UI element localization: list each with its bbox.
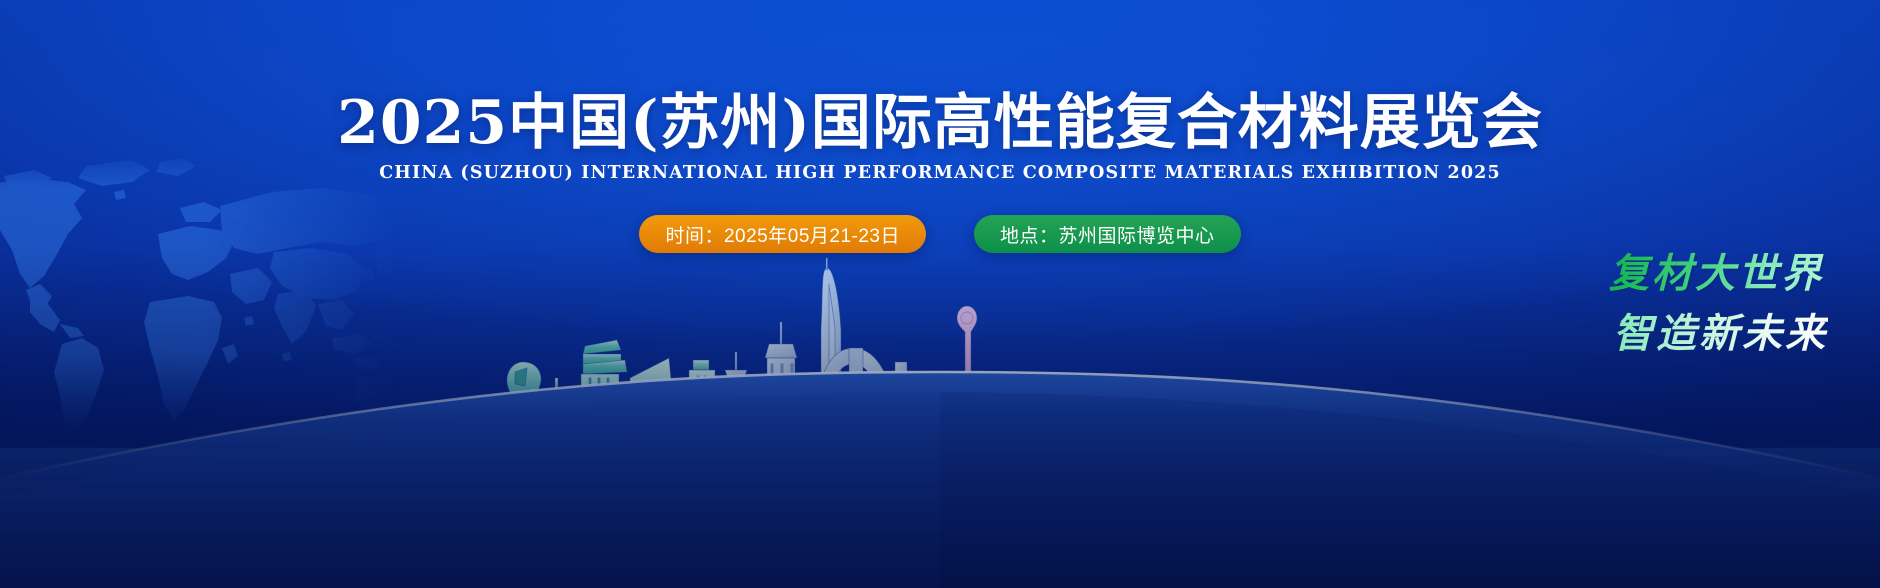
page-title-en: CHINA (SUZHOU) INTERNATIONAL HIGH PERFOR…	[0, 163, 1880, 183]
title-block: 2025中国(苏州)国际高性能复合材料展览会 CHINA (SUZHOU) IN…	[0, 92, 1880, 183]
info-pill-row: 时间：2025年05月21-23日 地点：苏州国际博览中心	[0, 215, 1880, 253]
event-venue-badge: 地点：苏州国际博览中心	[974, 215, 1241, 253]
slogan-block: 复材大世界 智造新未来	[1609, 244, 1824, 364]
event-date-badge: 时间：2025年05月21-23日	[639, 215, 926, 253]
slogan-line-1: 复材大世界	[1609, 244, 1824, 304]
horizon-ground-graphic	[0, 328, 1880, 588]
page-title-cn: 2025中国(苏州)国际高性能复合材料展览会	[0, 92, 1880, 155]
exhibition-banner: 2025中国(苏州)国际高性能复合材料展览会 CHINA (SUZHOU) IN…	[0, 0, 1880, 588]
slogan-line-2: 智造新未来	[1609, 304, 1828, 364]
